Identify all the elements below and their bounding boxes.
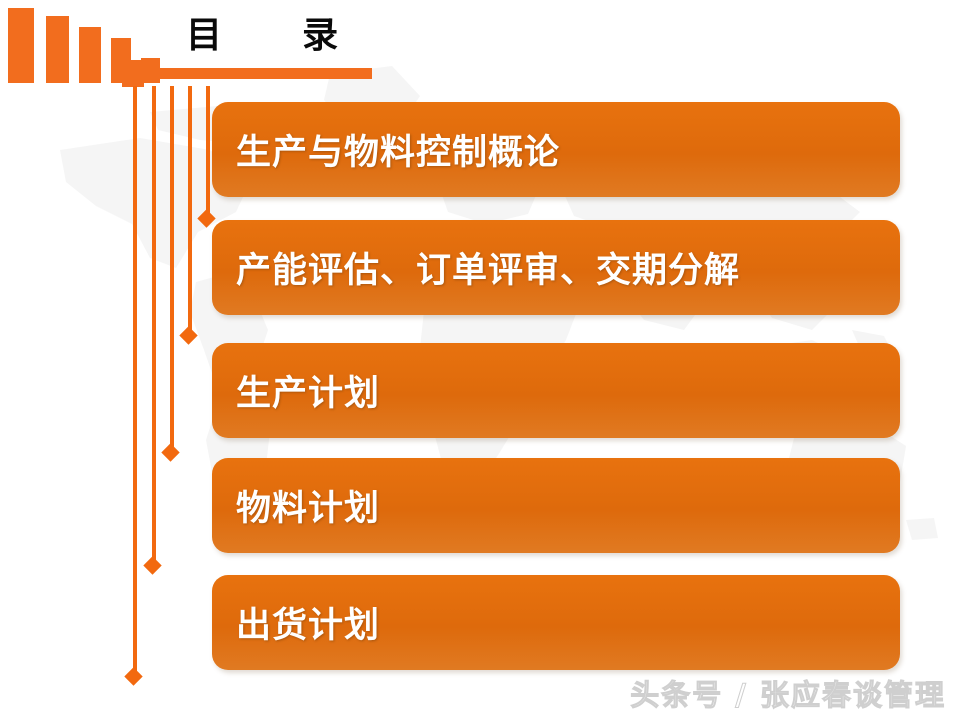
header-rule — [122, 68, 372, 79]
agenda-item-label: 出货计划 — [236, 597, 380, 648]
agenda-item-1[interactable]: 生产与物料控制概论 — [212, 102, 900, 197]
connector-diamond-4 — [179, 326, 197, 344]
connector-diamond-2 — [143, 556, 161, 574]
agenda-item-3[interactable]: 生产计划 — [212, 343, 900, 438]
connector-line-2 — [152, 86, 156, 565]
page-title: 目 录 — [186, 14, 344, 57]
agenda-item-label: 产能评估、订单评审、交期分解 — [236, 242, 740, 293]
footer-watermark: 头条号 / 张应春谈管理 — [630, 672, 946, 714]
connector-line-1 — [133, 86, 137, 676]
deco-bar-2 — [46, 16, 69, 83]
agenda-item-4[interactable]: 物料计划 — [212, 458, 900, 553]
agenda-item-label: 生产与物料控制概论 — [236, 124, 560, 175]
agenda-item-label: 生产计划 — [236, 365, 380, 416]
connector-line-5 — [206, 86, 210, 218]
connector-diamond-5 — [197, 209, 215, 227]
connector-line-3 — [170, 86, 174, 452]
connector-diamond-3 — [161, 443, 179, 461]
deco-bar-3 — [79, 27, 101, 83]
agenda-item-5[interactable]: 出货计划 — [212, 575, 900, 670]
connector-line-4 — [188, 86, 192, 335]
agenda-item-label: 物料计划 — [236, 480, 380, 531]
connector-diamond-1 — [124, 667, 142, 685]
agenda-item-2[interactable]: 产能评估、订单评审、交期分解 — [212, 220, 900, 315]
slide-canvas: 目 录 生产与物料控制概论 产能评估、订单评审、交期分解 生产计划 物料计划 出… — [0, 0, 960, 720]
deco-bar-1 — [8, 8, 34, 83]
